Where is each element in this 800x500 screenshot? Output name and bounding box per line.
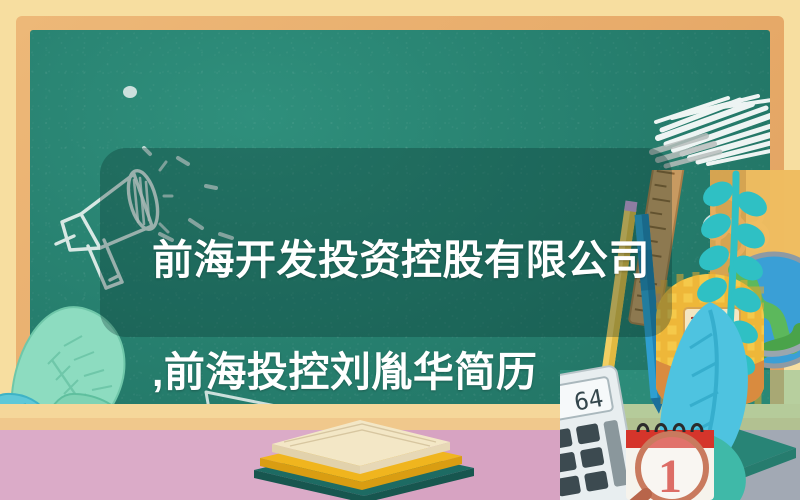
poster-canvas: 64 bbox=[0, 0, 800, 500]
flower-chalk-drawing bbox=[706, 278, 762, 334]
page-title-line-1: 前海开发投资控股有限公司 bbox=[152, 232, 692, 288]
page-title-line-2: ,前海投控刘胤华简历 bbox=[152, 344, 692, 400]
chalk-eraser-smear bbox=[648, 78, 770, 170]
page-title: 前海开发投资控股有限公司 ,前海投控刘胤华简历 bbox=[152, 176, 692, 456]
flower-chalk-drawing bbox=[700, 190, 770, 266]
